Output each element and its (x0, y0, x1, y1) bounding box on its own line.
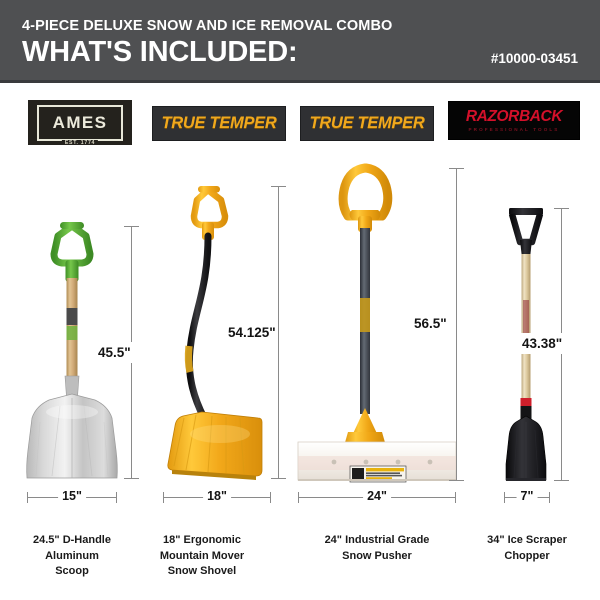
height-cap-bottom (271, 478, 286, 479)
razorback-wordmark: RAZORBACK (466, 109, 562, 125)
height-cap-top (124, 226, 139, 227)
product-ice-scraper: 43.38" (470, 150, 600, 490)
brand-logo-razorback: RAZORBACK PROFESSIONAL TOOLS (448, 101, 580, 140)
height-dimension-line (278, 186, 279, 478)
width-dimension-line-1: 15" (27, 497, 117, 498)
product-caption-3: 24" Industrial Grade Snow Pusher (300, 533, 454, 564)
height-cap-top (271, 186, 286, 187)
caption-line-1: 18" Ergonomic (137, 533, 267, 549)
height-label: 43.38" (520, 333, 564, 354)
snow-shovel-illustration (150, 150, 290, 490)
width-cap-left (298, 492, 299, 503)
width-label-1: 15" (58, 489, 86, 503)
product-snow-pusher: 56.5" (290, 150, 470, 490)
width-cap-right (549, 492, 550, 503)
brand-logo-ames: AMES EST. 1774 (28, 100, 132, 145)
height-cap-bottom (449, 480, 464, 481)
product-caption-4: 34" Ice Scraper Chopper (460, 533, 594, 564)
product-caption-1: 24.5" D-Handle Aluminum Scoop (7, 533, 137, 580)
ames-tagline: EST. 1774 (62, 140, 98, 146)
width-dimension-line-3: 24" (298, 497, 456, 498)
ames-frame: AMES EST. 1774 (37, 105, 123, 141)
height-cap-bottom (554, 480, 569, 481)
width-cap-right (270, 492, 271, 503)
caption-line-2: Mountain Mover (137, 549, 267, 565)
caption-line-2: Chopper (460, 549, 594, 565)
caption-line-3: Scoop (7, 564, 137, 580)
product-mountain-mover-shovel: 54.125" (150, 150, 290, 490)
width-cap-left (504, 492, 505, 503)
height-label: 54.125" (226, 322, 278, 343)
page-title: WHAT'S INCLUDED: (22, 38, 297, 67)
ames-wordmark: AMES (53, 114, 108, 131)
caption-line-3: Snow Shovel (137, 564, 267, 580)
caption-line-2: Aluminum (7, 549, 137, 565)
width-cap-left (27, 492, 28, 503)
product-caption-2: 18" Ergonomic Mountain Mover Snow Shovel (137, 533, 267, 580)
caption-line-1: 34" Ice Scraper (460, 533, 594, 549)
width-cap-right (116, 492, 117, 503)
width-label-4: 7" (517, 489, 538, 503)
brand-logo-true-temper-1: TRUE TEMPER (152, 106, 286, 141)
brand-logo-true-temper-2: TRUE TEMPER (300, 106, 434, 141)
true-temper-wordmark: TRUE TEMPER (310, 115, 425, 132)
width-cap-right (455, 492, 456, 503)
header-divider (0, 80, 600, 83)
width-dimension-line-4: 7" (504, 497, 550, 498)
width-label-2: 18" (203, 489, 231, 503)
width-cap-left (163, 492, 164, 503)
width-label-3: 24" (363, 489, 391, 503)
height-cap-top (449, 168, 464, 169)
height-label: 45.5" (96, 342, 133, 363)
sku-number: #10000-03451 (491, 51, 578, 66)
width-dimension-line-2: 18" (163, 497, 271, 498)
aluminum-scoop-illustration (0, 150, 145, 490)
caption-line-2: Snow Pusher (300, 549, 454, 565)
header-subtitle: 4-PIECE DELUXE SNOW AND ICE REMOVAL COMB… (22, 18, 392, 34)
product-aluminum-scoop: 45.5" (0, 150, 145, 490)
height-label: 56.5" (412, 313, 449, 334)
height-dimension-line (456, 168, 457, 480)
caption-line-1: 24.5" D-Handle (7, 533, 137, 549)
true-temper-wordmark: TRUE TEMPER (162, 115, 277, 132)
ice-scraper-illustration (470, 150, 600, 490)
height-cap-bottom (124, 478, 139, 479)
razorback-tagline: PROFESSIONAL TOOLS (469, 127, 560, 132)
caption-line-1: 24" Industrial Grade (300, 533, 454, 549)
infographic-page: 4-PIECE DELUXE SNOW AND ICE REMOVAL COMB… (0, 0, 600, 600)
height-cap-top (554, 208, 569, 209)
